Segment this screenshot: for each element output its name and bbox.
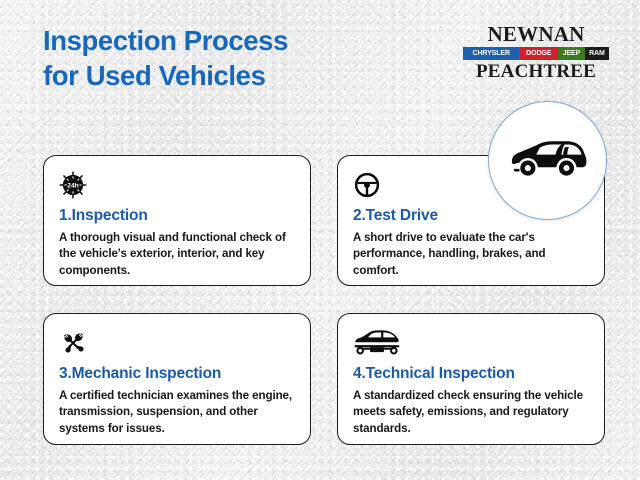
svg-text:24h: 24h <box>67 183 78 190</box>
clock-24h-icon: 24h <box>59 171 87 199</box>
card-heading: 1.Inspection <box>59 207 295 225</box>
card-body-text: A thorough visual and functional check o… <box>59 230 295 279</box>
suv-icon <box>506 128 590 193</box>
logo-top-word: NEWNAN <box>463 24 609 45</box>
dealership-logo: NEWNAN CHRYSLER DODGE JEEP RAM PEACHTREE <box>463 24 609 81</box>
card-body-text: A certified technician examines the engi… <box>59 388 295 437</box>
brand-chip-chrysler: CHRYSLER <box>463 47 519 60</box>
brand-chip-dodge: DODGE <box>519 47 558 60</box>
card-icon-wrap <box>353 328 589 358</box>
card-body-text: A standardized check ensuring the vehicl… <box>353 388 589 437</box>
page-title: Inspection Process for Used Vehicles <box>43 24 403 93</box>
car-chassis-icon <box>353 329 401 357</box>
crossed-wrenches-icon <box>59 329 89 357</box>
card-heading: 3.Mechanic Inspection <box>59 365 295 383</box>
page-title-line-1: Inspection Process <box>43 24 403 59</box>
step-card-inspection[interactable]: 24h 1.Inspection A thorough visual and f… <box>43 155 311 286</box>
page-title-line-2: for Used Vehicles <box>43 59 403 94</box>
card-heading: 4.Technical Inspection <box>353 365 589 383</box>
card-icon-wrap <box>59 328 295 358</box>
brand-chip-ram: RAM <box>585 47 609 60</box>
step-card-mechanic-inspection[interactable]: 3.Mechanic Inspection A certified techni… <box>43 313 311 445</box>
card-body-text: A short drive to evaluate the car's perf… <box>353 230 589 279</box>
brand-chip-jeep: JEEP <box>558 47 585 60</box>
card-icon-wrap: 24h <box>59 170 295 200</box>
logo-brand-strip: CHRYSLER DODGE JEEP RAM <box>463 47 609 60</box>
step-card-technical-inspection[interactable]: 4.Technical Inspection A standardized ch… <box>337 313 605 445</box>
logo-bottom-word: PEACHTREE <box>463 62 609 81</box>
infographic-page: Inspection Process for Used Vehicles NEW… <box>0 0 640 480</box>
steering-wheel-icon <box>353 171 381 199</box>
hero-vehicle-badge <box>488 101 607 220</box>
